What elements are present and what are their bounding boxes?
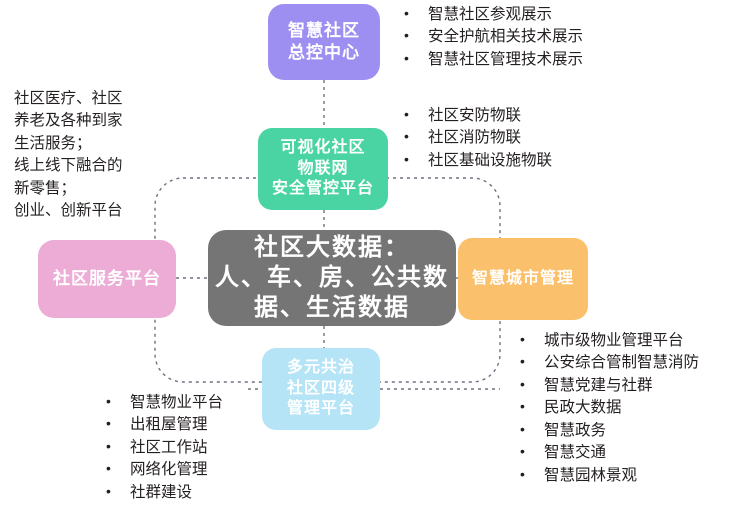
list-item: 智慧园林景观 bbox=[518, 465, 699, 487]
list-item: 智慧政务 bbox=[518, 420, 699, 442]
text-line: 线上线下融合的 bbox=[14, 155, 123, 177]
list-item: 民政大数据 bbox=[518, 397, 699, 419]
text-line: 新零售； bbox=[14, 178, 123, 200]
node-big-data-line-3: 据、生活数据 bbox=[254, 293, 410, 323]
node-service-platform[interactable]: 社区服务平台 bbox=[38, 240, 176, 318]
list-item: 社区消防物联 bbox=[402, 127, 552, 149]
list-item: 智慧物业平台 bbox=[104, 392, 223, 414]
list-city-management: 城市级物业管理平台 公安综合管制智慧消防 智慧党建与社群 民政大数据 智慧政务 … bbox=[518, 330, 699, 487]
list-item: 安全护航相关技术展示 bbox=[402, 26, 583, 48]
node-command-center[interactable]: 智慧社区 总控中心 bbox=[268, 4, 380, 80]
list-item: 智慧社区管理技术展示 bbox=[402, 49, 583, 71]
list-item: 智慧党建与社群 bbox=[518, 375, 699, 397]
node-city-management[interactable]: 智慧城市管理 bbox=[458, 238, 588, 320]
node-big-data-center[interactable]: 社区大数据： 人、车、房、公共数 据、生活数据 bbox=[208, 230, 456, 326]
node-four-level-line-1: 多元共治 bbox=[287, 358, 355, 378]
node-iot-platform-line-2: 物联网 bbox=[297, 159, 348, 179]
node-four-level-line-2: 社区四级 bbox=[287, 379, 355, 399]
node-command-center-line-2: 总控中心 bbox=[288, 42, 360, 64]
list-iot-platform: 社区安防物联 社区消防物联 社区基础设施物联 bbox=[402, 105, 552, 172]
list-item: 公安综合管制智慧消防 bbox=[518, 352, 699, 374]
node-big-data-line-1: 社区大数据： bbox=[254, 233, 410, 263]
list-item: 智慧交通 bbox=[518, 442, 699, 464]
list-item: 社区工作站 bbox=[104, 437, 223, 459]
node-iot-platform[interactable]: 可视化社区 物联网 安全管控平台 bbox=[258, 128, 388, 210]
text-line: 创业、创新平台 bbox=[14, 200, 123, 222]
text-line: 社区医疗、社区 bbox=[14, 88, 123, 110]
list-four-level-platform: 智慧物业平台 出租屋管理 社区工作站 网络化管理 社群建设 bbox=[104, 392, 223, 504]
node-big-data-line-2: 人、车、房、公共数 bbox=[215, 263, 449, 293]
list-item: 社群建设 bbox=[104, 482, 223, 504]
node-command-center-line-1: 智慧社区 bbox=[288, 20, 360, 42]
text-block-service-platform: 社区医疗、社区 养老及各种到家 生活服务； 线上线下融合的 新零售； 创业、创新… bbox=[14, 88, 123, 223]
list-item: 网络化管理 bbox=[104, 459, 223, 481]
text-line: 生活服务； bbox=[14, 133, 123, 155]
diagram-canvas: 智慧社区 总控中心 可视化社区 物联网 安全管控平台 社区服务平台 社区大数据：… bbox=[0, 0, 740, 512]
node-iot-platform-line-3: 安全管控平台 bbox=[272, 179, 374, 199]
node-iot-platform-line-1: 可视化社区 bbox=[280, 138, 365, 158]
list-command-center: 智慧社区参观展示 安全护航相关技术展示 智慧社区管理技术展示 bbox=[402, 4, 583, 71]
node-city-management-line-1: 智慧城市管理 bbox=[472, 269, 574, 289]
list-item: 城市级物业管理平台 bbox=[518, 330, 699, 352]
text-line: 养老及各种到家 bbox=[14, 110, 123, 132]
node-service-platform-line-1: 社区服务平台 bbox=[53, 268, 161, 290]
list-item: 社区基础设施物联 bbox=[402, 150, 552, 172]
list-item: 智慧社区参观展示 bbox=[402, 4, 583, 26]
list-item: 社区安防物联 bbox=[402, 105, 552, 127]
list-item: 出租屋管理 bbox=[104, 414, 223, 436]
node-four-level-line-3: 管理平台 bbox=[287, 399, 355, 419]
node-four-level-platform[interactable]: 多元共治 社区四级 管理平台 bbox=[262, 348, 380, 430]
